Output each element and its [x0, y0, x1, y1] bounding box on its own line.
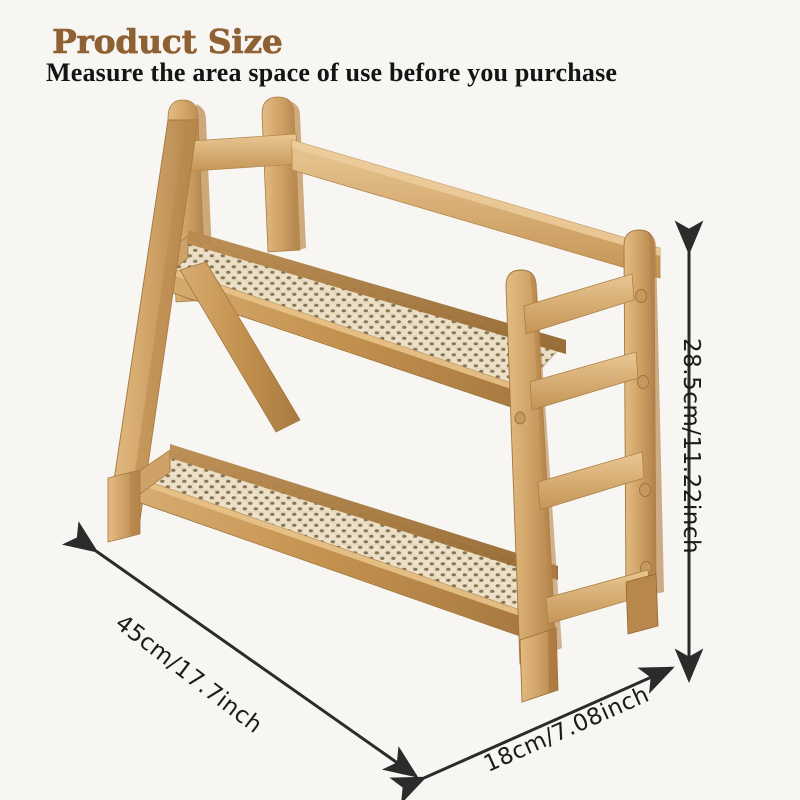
front-right-post [506, 270, 562, 664]
right-back-foot [626, 574, 658, 634]
bottom-shelf-rattan-panel [140, 452, 552, 616]
top-side-rail-back [292, 140, 660, 278]
top-shelf-left-cap [152, 236, 188, 286]
dowel-plug-icon [515, 412, 525, 424]
depth-dimension-label: 18cm/7.08inch [480, 682, 653, 778]
dowel-plug-icon [641, 562, 652, 575]
left-frame-diagonal-brace [180, 262, 300, 432]
dowel-plug-icon [638, 376, 649, 389]
back-right-post [624, 230, 664, 596]
left-front-foot [108, 470, 140, 542]
bottom-shelf-front-rail [132, 476, 520, 636]
dowel-plug-icon [636, 290, 647, 303]
width-dimension-label: 45cm/17.7inch [110, 610, 267, 739]
width-dimension-arrow [96, 551, 416, 776]
back-left-post [168, 100, 214, 302]
top-shelf-front-rail [152, 262, 520, 410]
page-subtitle: Measure the area space of use before you… [46, 58, 617, 88]
dowel-plug-icon [640, 484, 651, 497]
product-size-infographic: Product Size Measure the area space of u… [0, 0, 800, 800]
bottom-shelf-left-cap [132, 450, 170, 500]
right-front-foot [520, 628, 558, 702]
right-frame-rails [524, 274, 650, 624]
top-shelf-rattan-panel [160, 238, 560, 392]
height-dimension-label: 28.5cm/11.22inch [678, 338, 704, 554]
top-shelf-back-rail [188, 230, 566, 354]
back-left-inner-post [262, 97, 306, 252]
left-frame-outer-leg [108, 120, 198, 520]
bottom-shelf-back-rail [170, 444, 558, 580]
upper-back-rail-left [176, 134, 298, 172]
page-title: Product Size [52, 22, 283, 61]
